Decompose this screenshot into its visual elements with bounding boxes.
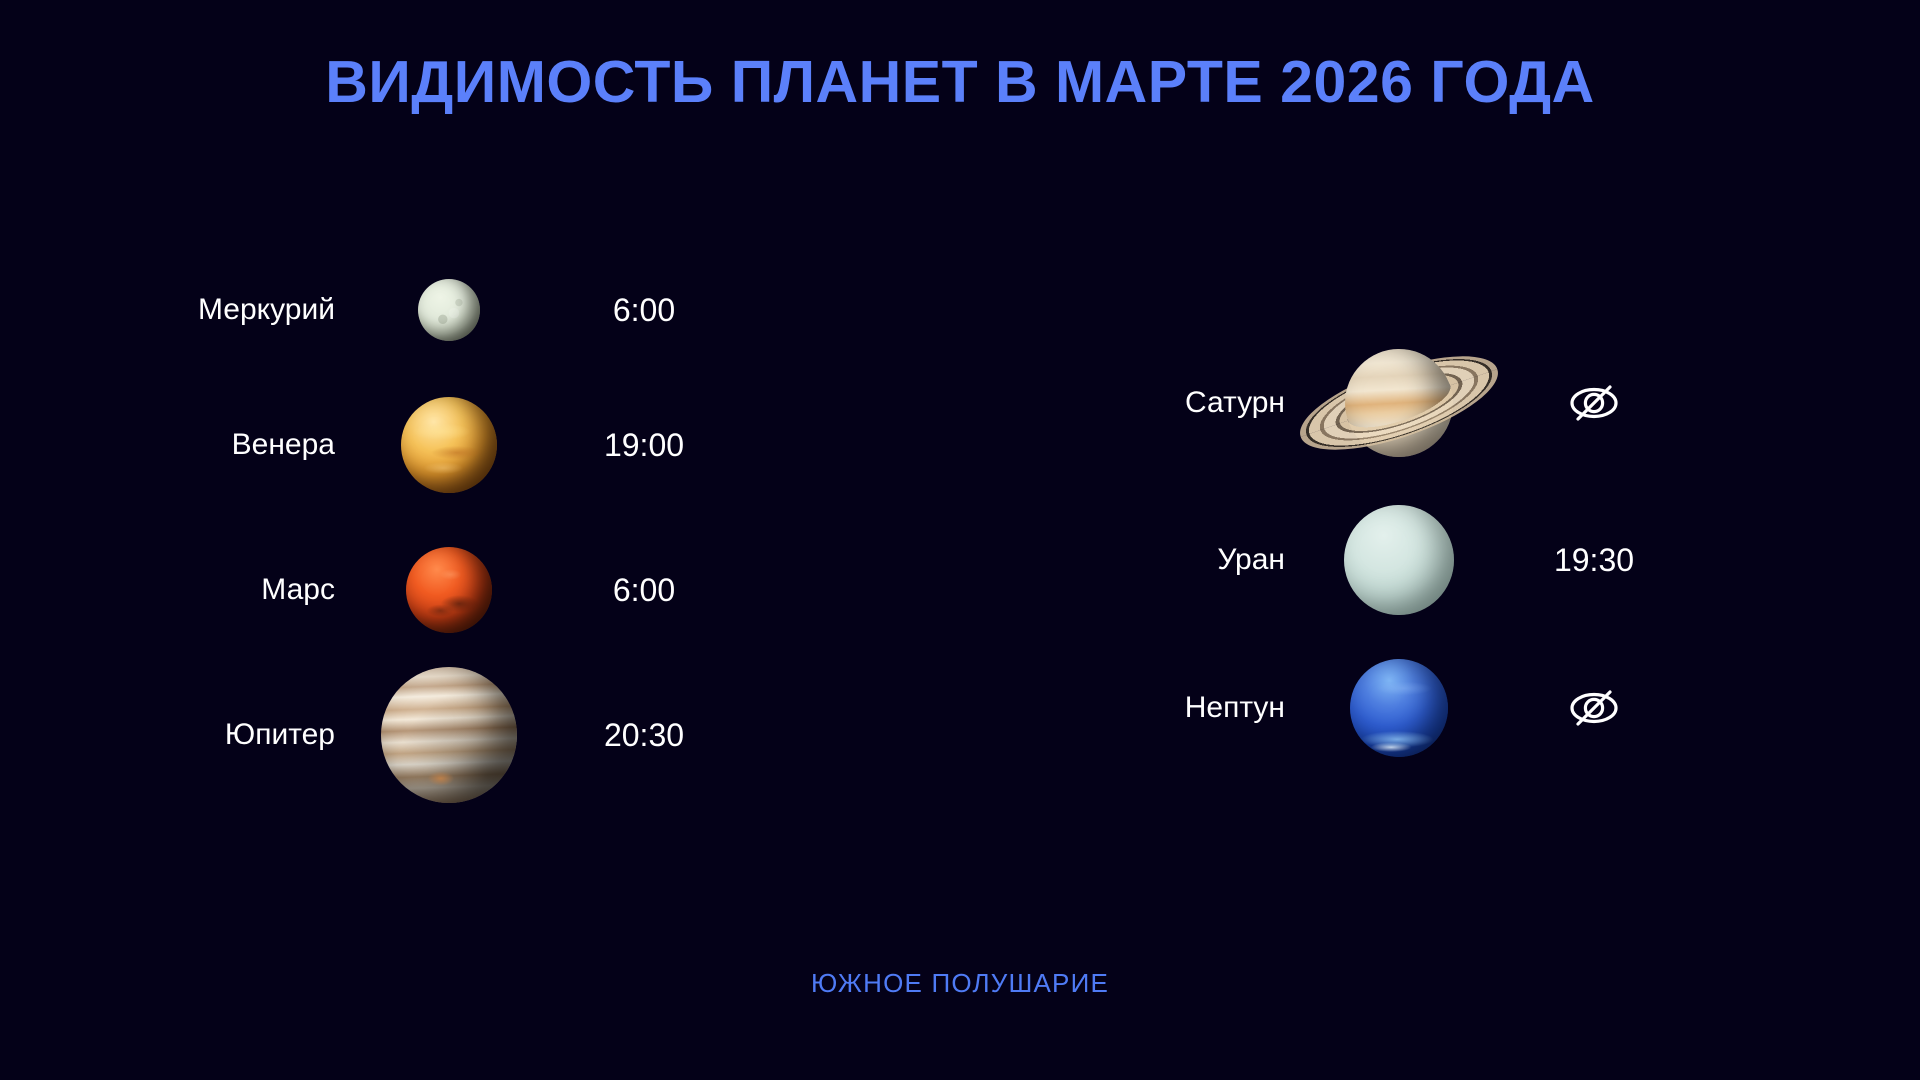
planet-label-mars: Марс — [120, 573, 349, 607]
planet-art-saturn — [1299, 328, 1499, 478]
planet-label-neptune: Нептун — [1080, 691, 1299, 725]
planet-row-saturn: Сатурн — [1080, 320, 1840, 485]
planet-row-mercury: Меркурий 6:00 — [120, 250, 880, 370]
planet-visibility-saturn — [1499, 381, 1689, 425]
planet-label-uranus: Уран — [1080, 543, 1299, 577]
mars-planet-icon — [406, 547, 492, 633]
page-title: ВИДИМОСТЬ ПЛАНЕТ В МАРТЕ 2026 ГОДА — [0, 48, 1920, 116]
hemisphere-label: ЮЖНОЕ ПОЛУШАРИЕ — [0, 968, 1920, 999]
planet-art-neptune — [1299, 659, 1499, 757]
planet-column-right: Сатурн Уран 19:30 Нептун — [1080, 320, 1840, 780]
planet-time-mars: 6:00 — [549, 572, 739, 609]
planet-label-saturn: Сатурн — [1080, 386, 1299, 420]
planet-art-jupiter — [349, 667, 549, 803]
planet-art-uranus — [1299, 505, 1499, 615]
planet-row-mars: Марс 6:00 — [120, 520, 880, 660]
planet-visibility-neptune — [1499, 686, 1689, 730]
planet-art-mars — [349, 547, 549, 633]
planet-row-uranus: Уран 19:30 — [1080, 485, 1840, 635]
planet-time-uranus: 19:30 — [1499, 542, 1689, 579]
venus-planet-icon — [401, 397, 497, 493]
eye-off-icon — [1565, 686, 1623, 730]
planet-row-neptune: Нептун — [1080, 635, 1840, 780]
planet-time-mercury: 6:00 — [549, 292, 739, 329]
planet-label-jupiter: Юпитер — [120, 718, 349, 752]
uranus-planet-icon — [1344, 505, 1454, 615]
planet-row-venus: Венера 19:00 — [120, 370, 880, 520]
planet-row-jupiter: Юпитер 20:30 — [120, 660, 880, 810]
mercury-planet-icon — [418, 279, 480, 341]
planet-label-mercury: Меркурий — [120, 293, 349, 327]
saturn-planet-icon — [1299, 328, 1499, 478]
planet-time-jupiter: 20:30 — [549, 717, 739, 754]
jupiter-planet-icon — [381, 667, 517, 803]
planet-column-left: Меркурий 6:00 Венера 19:00 Марс 6:00 Юпи… — [120, 250, 880, 810]
neptune-planet-icon — [1350, 659, 1448, 757]
eye-off-icon — [1565, 381, 1623, 425]
planet-time-venus: 19:00 — [549, 427, 739, 464]
planet-art-mercury — [349, 279, 549, 341]
planet-label-venus: Венера — [120, 428, 349, 462]
planet-art-venus — [349, 397, 549, 493]
